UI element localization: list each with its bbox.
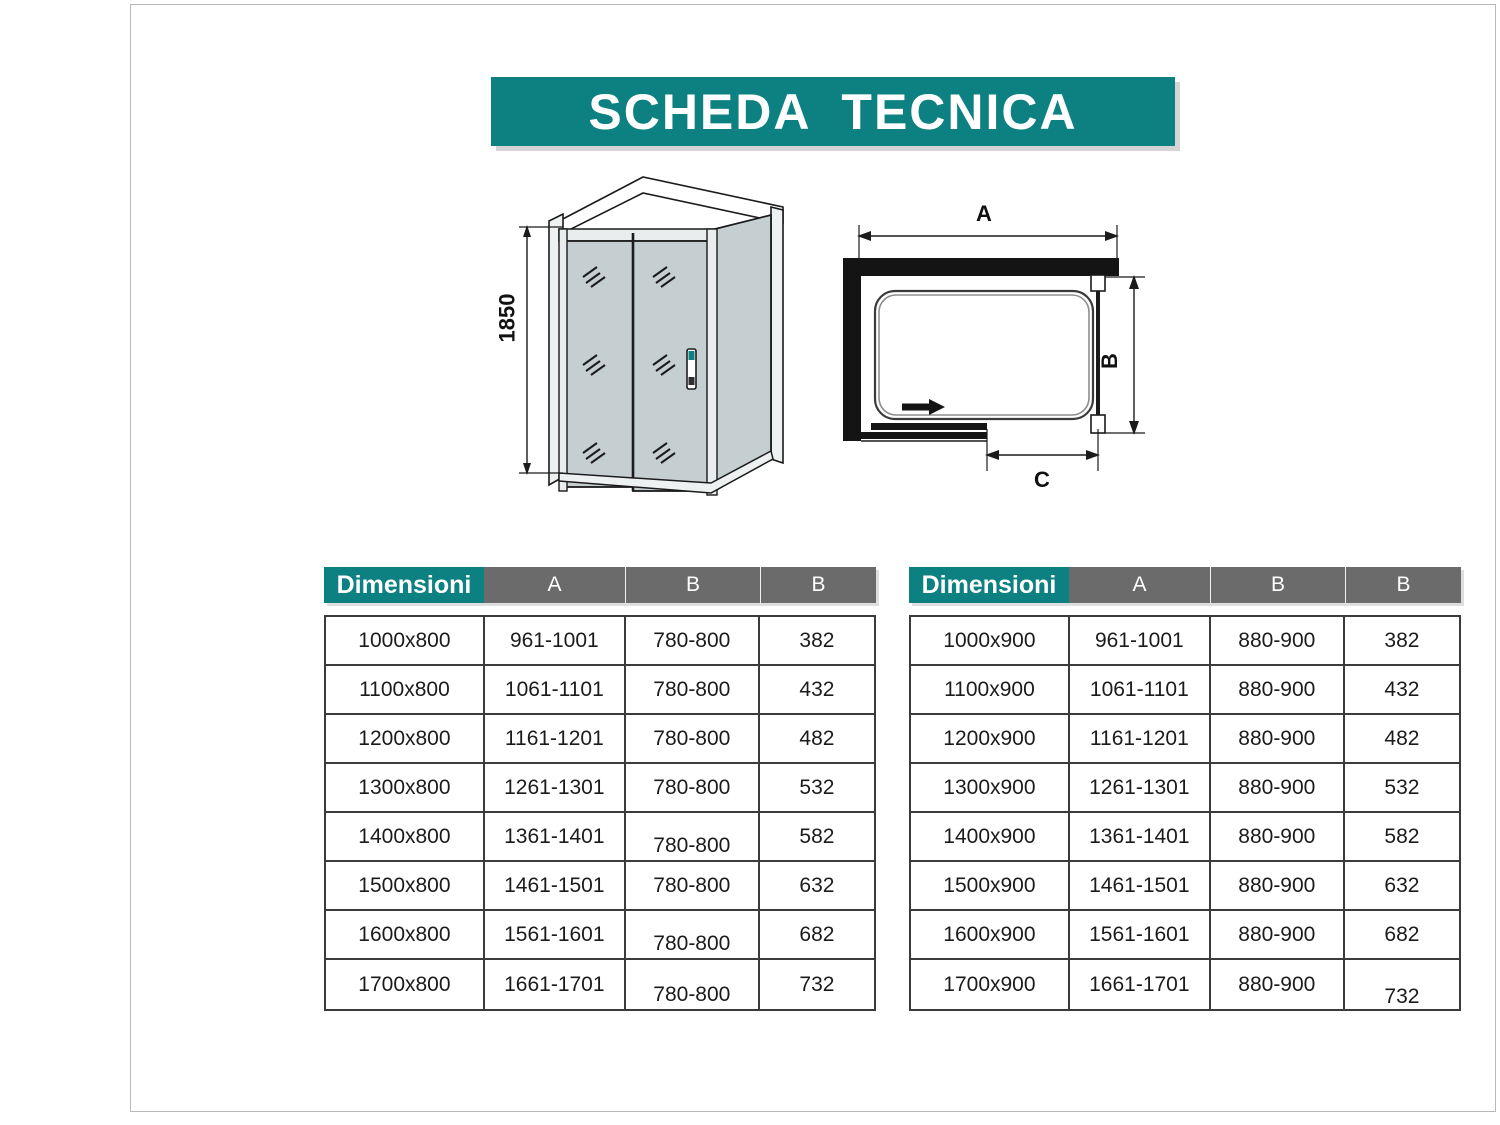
cell-a: 1561-1601 — [485, 911, 626, 958]
cell-b2: 382 — [760, 617, 874, 664]
table-row: 1000x900 961-1001 880-900 382 — [911, 617, 1459, 666]
cell-dimensione: 1600x900 — [911, 911, 1070, 958]
header-cell-b1: B — [626, 567, 761, 603]
cell-b1: 780-800 — [626, 813, 760, 860]
cell-a: 1261-1301 — [1070, 764, 1211, 811]
cell-b2: 582 — [760, 813, 874, 860]
header-cell-b1: B — [1211, 567, 1346, 603]
plan-view-svg: A B C — [829, 203, 1169, 493]
cell-a: 1561-1601 — [1070, 911, 1211, 958]
cell-b1: 880-900 — [1211, 666, 1345, 713]
cell-dimensione: 1500x800 — [326, 862, 485, 909]
door-handle-icon — [687, 349, 696, 389]
table-row: 1000x800 961-1001 780-800 382 — [326, 617, 874, 666]
cell-b1: 880-900 — [1211, 617, 1345, 664]
cell-b2: 632 — [760, 862, 874, 909]
table-row: 1500x800 1461-1501 780-800 632 — [326, 862, 874, 911]
cell-b2: 432 — [760, 666, 874, 713]
isometric-enclosure-drawing: 1850 — [483, 163, 803, 523]
cell-b2: 532 — [1345, 764, 1459, 811]
cell-b2: 382 — [1345, 617, 1459, 664]
table-row: 1200x900 1161-1201 880-900 482 — [911, 715, 1459, 764]
height-dimension-label: 1850 — [494, 294, 520, 343]
cell-a: 1261-1301 — [485, 764, 626, 811]
sliding-door-panels-plan — [859, 423, 987, 441]
cell-b2: 532 — [760, 764, 874, 811]
table-body: 1000x800 961-1001 780-800 382 1100x800 1… — [324, 615, 876, 1011]
cell-dimensione: 1300x800 — [326, 764, 485, 811]
cell-b1: 780-800 — [626, 715, 760, 762]
page-frame: SCHEDA TECNICA — [130, 4, 1496, 1112]
cell-b1: 880-900 — [1211, 862, 1345, 909]
cell-b2: 482 — [1345, 715, 1459, 762]
table-header-row: Dimensioni A B B — [324, 567, 876, 603]
cell-b1: 880-900 — [1211, 911, 1345, 958]
cell-a: 961-1001 — [1070, 617, 1211, 664]
cell-a: 1361-1401 — [1070, 813, 1211, 860]
cell-b2: 682 — [1345, 911, 1459, 958]
plan-view-drawing: A B C — [829, 203, 1169, 493]
dimension-a — [857, 225, 1119, 261]
cell-b2: 682 — [760, 911, 874, 958]
cell-b1: 880-900 — [1211, 715, 1345, 762]
cell-dimensione: 1000x800 — [326, 617, 485, 664]
header-cell-a: A — [484, 567, 626, 603]
table-row: 1500x900 1461-1501 880-900 632 — [911, 862, 1459, 911]
header-cell-b2: B — [761, 567, 876, 603]
dimension-c-label: C — [1034, 467, 1050, 492]
cell-b2: 432 — [1345, 666, 1459, 713]
cell-a: 1461-1501 — [485, 862, 626, 909]
cell-b2: 482 — [760, 715, 874, 762]
cell-a: 1461-1501 — [1070, 862, 1211, 909]
cell-dimensione: 1100x900 — [911, 666, 1070, 713]
header-cell-a: A — [1069, 567, 1211, 603]
cell-b1: 780-800 — [626, 862, 760, 909]
cell-a: 1361-1401 — [485, 813, 626, 860]
table-row: 1100x800 1061-1101 780-800 432 — [326, 666, 874, 715]
dimension-a-label: A — [976, 203, 992, 226]
page-title-banner: SCHEDA TECNICA — [491, 77, 1175, 146]
cell-dimensione: 1600x800 — [326, 911, 485, 958]
dimension-c — [985, 429, 1100, 471]
spec-table-800: Dimensioni A B B 1000x800 961-1001 780-8… — [324, 567, 876, 1011]
cell-a: 961-1001 — [485, 617, 626, 664]
table-row: 1300x800 1261-1301 780-800 532 — [326, 764, 874, 813]
cell-b2: 732 — [760, 960, 874, 1009]
cell-b1: 780-800 — [626, 617, 760, 664]
cell-b1: 780-800 — [626, 911, 760, 958]
header-cell-dimensioni: Dimensioni — [324, 567, 484, 603]
table-row: 1600x900 1561-1601 880-900 682 — [911, 911, 1459, 960]
table-row: 1700x900 1661-1701 880-900 732 — [911, 960, 1459, 1009]
cell-b2: 632 — [1345, 862, 1459, 909]
table-row: 1200x800 1161-1201 780-800 482 — [326, 715, 874, 764]
header-cell-dimensioni: Dimensioni — [909, 567, 1069, 603]
page-title: SCHEDA TECNICA — [588, 83, 1077, 141]
table-row: 1400x900 1361-1401 880-900 582 — [911, 813, 1459, 862]
cell-b1: 880-900 — [1211, 764, 1345, 811]
cell-dimensione: 1000x900 — [911, 617, 1070, 664]
cell-b2: 732 — [1345, 960, 1459, 1009]
cell-b1: 880-900 — [1211, 960, 1345, 1009]
cell-a: 1061-1101 — [1070, 666, 1211, 713]
cell-dimensione: 1400x800 — [326, 813, 485, 860]
table-header-row: Dimensioni A B B — [909, 567, 1461, 603]
isometric-enclosure-svg — [483, 163, 803, 523]
cell-a: 1061-1101 — [485, 666, 626, 713]
table-row: 1100x900 1061-1101 880-900 432 — [911, 666, 1459, 715]
table-row: 1600x800 1561-1601 780-800 682 — [326, 911, 874, 960]
cell-dimensione: 1200x900 — [911, 715, 1070, 762]
table-row: 1400x800 1361-1401 780-800 582 — [326, 813, 874, 862]
header-cell-b2: B — [1346, 567, 1461, 603]
cell-b2: 582 — [1345, 813, 1459, 860]
cell-a: 1161-1201 — [1070, 715, 1211, 762]
cell-b1: 780-800 — [626, 960, 760, 1009]
cell-dimensione: 1400x900 — [911, 813, 1070, 860]
cell-dimensione: 1300x900 — [911, 764, 1070, 811]
cell-a: 1661-1701 — [1070, 960, 1211, 1009]
cell-a: 1161-1201 — [485, 715, 626, 762]
cell-dimensione: 1700x900 — [911, 960, 1070, 1009]
cell-b1: 880-900 — [1211, 813, 1345, 860]
cell-dimensione: 1100x800 — [326, 666, 485, 713]
cell-a: 1661-1701 — [485, 960, 626, 1009]
cell-b1: 780-800 — [626, 666, 760, 713]
cell-dimensione: 1500x900 — [911, 862, 1070, 909]
cell-dimensione: 1700x800 — [326, 960, 485, 1009]
table-row: 1300x900 1261-1301 880-900 532 — [911, 764, 1459, 813]
table-body: 1000x900 961-1001 880-900 382 1100x900 1… — [909, 615, 1461, 1011]
cell-dimensione: 1200x800 — [326, 715, 485, 762]
spec-table-900: Dimensioni A B B 1000x900 961-1001 880-9… — [909, 567, 1461, 1011]
table-row: 1700x800 1661-1701 780-800 732 — [326, 960, 874, 1009]
cell-b1: 780-800 — [626, 764, 760, 811]
dimension-b-label: B — [1097, 353, 1122, 369]
